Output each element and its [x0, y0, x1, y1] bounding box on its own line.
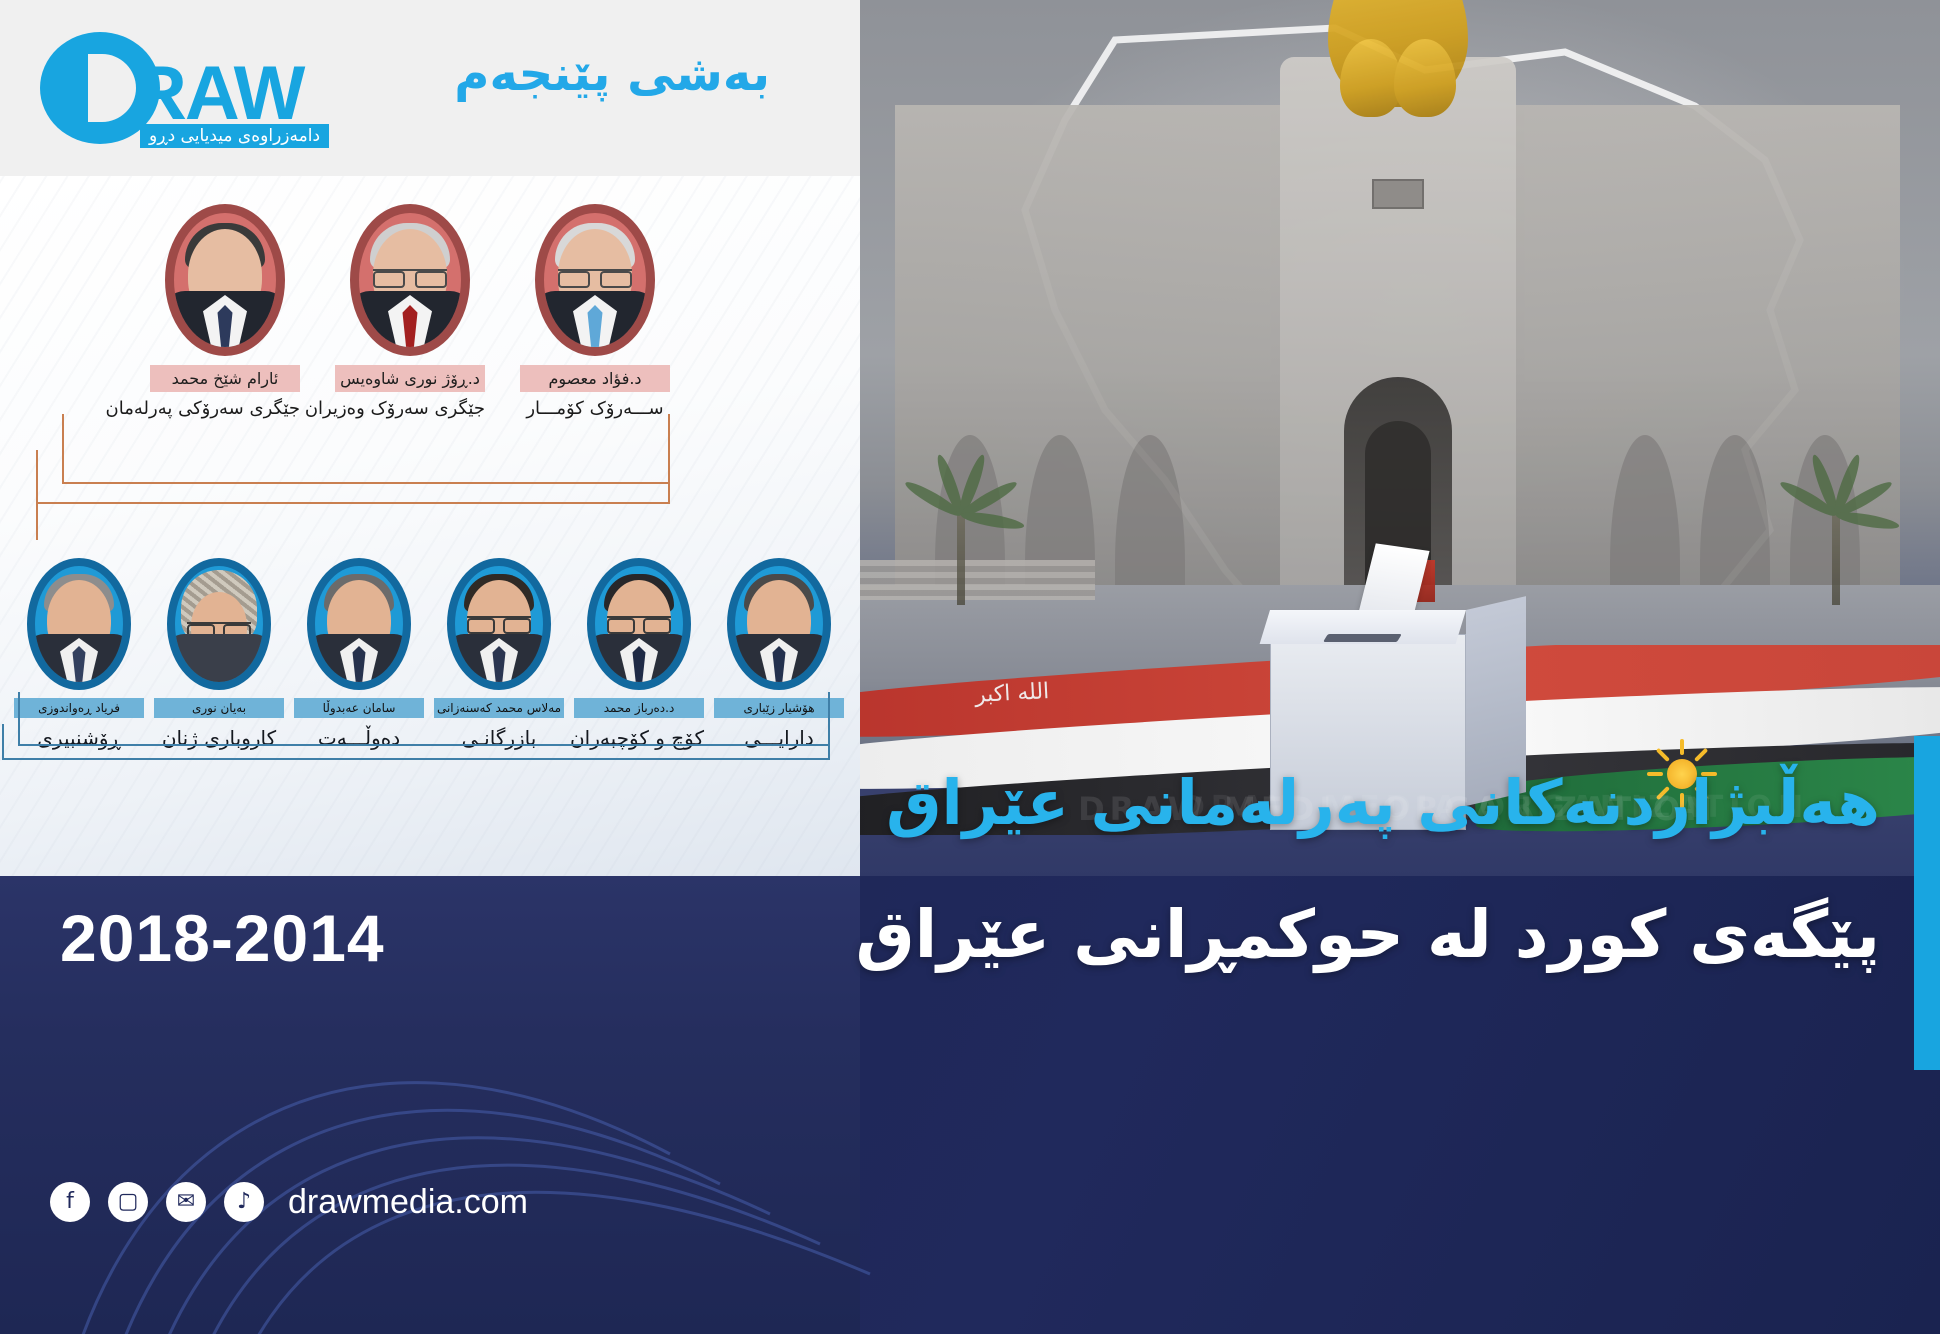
bottom-title-band: DRAW MEDIA ORGANIZATION هەڵبژاردنەکانی پ… — [0, 876, 1940, 1334]
portrait-minister-migration — [587, 558, 691, 690]
top-officials-row: د.فؤاد معصوم ســـەرۆک کۆمـــار د.ڕۆژ نور… — [150, 204, 670, 419]
takbir-text: الله اكبر — [974, 679, 1049, 708]
part-label: بەشی پێنجەم — [454, 46, 770, 102]
portrait-minister-trade — [447, 558, 551, 690]
website-url[interactable]: drawmedia.com — [288, 1183, 528, 1222]
bracket-bottom-secondary — [2, 724, 830, 760]
official-card-deputy-pm[interactable]: د.ڕۆژ نوری شاوەیس جێگری سەرۆک وەزیران — [335, 204, 485, 419]
golden-dome-left — [1340, 39, 1402, 117]
accent-strip — [1914, 736, 1940, 1070]
infographic-canvas: الله اكبر DRAW MEDIA ORGANIZ — [0, 0, 1940, 1334]
facebook-icon[interactable]: f — [50, 1182, 90, 1222]
official-card-deputy-speaker[interactable]: ئارام شێخ محمد جێگری سەرۆکی پەرلەمان — [150, 204, 300, 419]
year-range: 2018-2014 — [60, 900, 385, 976]
instagram-icon[interactable]: ▢ — [108, 1182, 148, 1222]
building-center-block — [1280, 57, 1516, 587]
tiktok-icon[interactable]: ♪ — [224, 1182, 264, 1222]
twitter-icon[interactable]: ✉ — [166, 1182, 206, 1222]
title-line-1: هەڵبژاردنەکانی پەرلەمانی عێراق — [886, 766, 1880, 839]
footer: f ▢ ✉ ♪ drawmedia.com — [50, 1182, 528, 1222]
draw-logo[interactable]: RAW دامەزراوەی میدیایی دڕو — [40, 32, 370, 144]
official-name: د.فؤاد معصوم — [520, 365, 670, 392]
title-line-2: پێگەی کورد لە حوکمڕانی عێراق — [856, 896, 1880, 973]
bracket-connector — [36, 476, 38, 540]
portrait-president — [535, 204, 655, 356]
palm-tree-left — [915, 455, 1005, 605]
portrait-minister-women-affairs — [167, 558, 271, 690]
portrait-deputy-speaker — [165, 204, 285, 356]
official-name: د.ڕۆژ نوری شاوەیس — [335, 365, 485, 392]
portrait-minister-culture — [27, 558, 131, 690]
palm-tree-right — [1790, 455, 1880, 605]
bracket-top-secondary — [36, 450, 670, 504]
official-card-president[interactable]: د.فؤاد معصوم ســـەرۆک کۆمـــار — [520, 204, 670, 419]
header-bar: RAW دامەزراوەی میدیایی دڕو بەشی پێنجەم — [0, 0, 860, 176]
logo-subtitle: دامەزراوەی میدیایی دڕو — [140, 124, 329, 148]
portrait-minister-finance — [727, 558, 831, 690]
parliament-building — [895, 105, 1900, 585]
portrait-deputy-pm — [350, 204, 470, 356]
portrait-minister-state — [307, 558, 411, 690]
golden-dome-right — [1394, 39, 1456, 117]
ballot-slot — [1322, 634, 1401, 642]
ballot-box-top — [1259, 610, 1465, 644]
official-name: ئارام شێخ محمد — [150, 365, 300, 392]
building-sign — [1372, 179, 1424, 209]
org-chart-area: د.فؤاد معصوم ســـەرۆک کۆمـــار د.ڕۆژ نور… — [0, 176, 860, 876]
logo-d-stem — [68, 54, 88, 122]
